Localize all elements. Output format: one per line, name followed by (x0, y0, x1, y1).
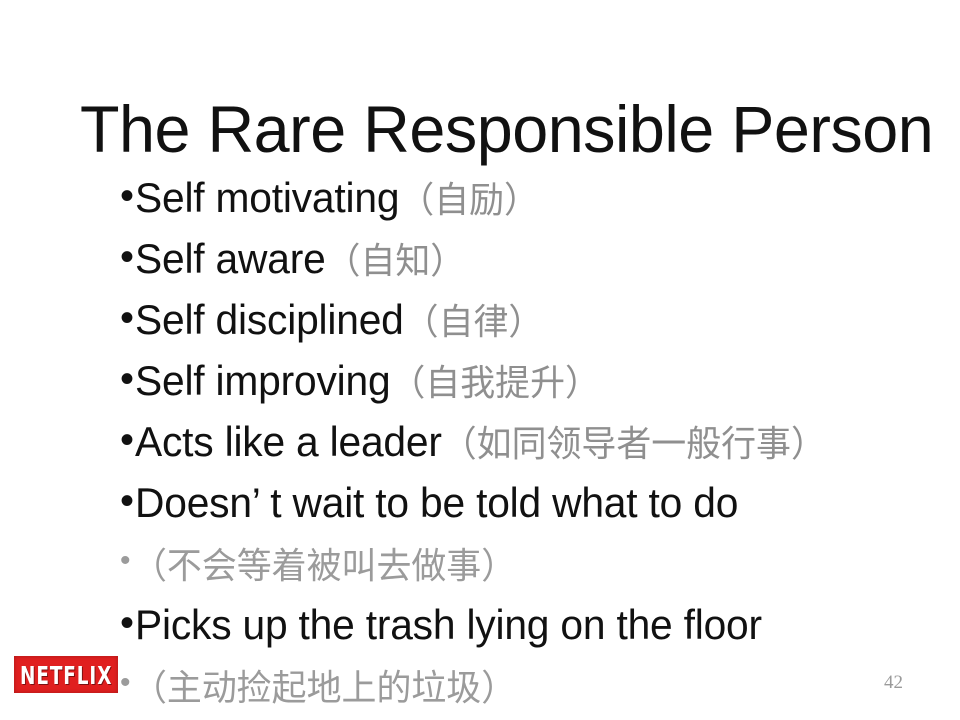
bullet-text-cn: （自律） (404, 301, 544, 342)
slide-title: The Rare Responsible Person (80, 92, 893, 166)
bullet-text-cn: （不会等着被叫去做事） (132, 545, 516, 586)
bullet-marker-icon: • (120, 420, 134, 460)
bullet-text: （不会等着被叫去做事） (132, 541, 516, 589)
bullet-text: Doesn’ t wait to be told what to do (135, 480, 738, 528)
bullet-text-cn: （主动捡起地上的垃圾） (132, 667, 516, 708)
slide-canvas: The Rare Responsible Person •Self motiva… (0, 0, 960, 720)
bullet-text: Self disciplined（自律） (135, 297, 543, 345)
bullet-marker-icon: • (120, 176, 134, 216)
bullet-item: •Doesn’ t wait to be told what to do (120, 473, 940, 534)
bullet-text: Self improving（自我提升） (135, 358, 600, 406)
bullet-marker-icon: • (120, 237, 134, 277)
bullet-text-en: Self disciplined (135, 296, 404, 343)
bullet-text: （主动捡起地上的垃圾） (132, 663, 516, 711)
bullet-text: Acts like a leader（如同领导者一般行事） (135, 419, 826, 467)
page-number: 42 (884, 672, 903, 694)
bullet-item: •Self disciplined（自律） (120, 290, 940, 351)
bullet-text-cn: （自励） (399, 179, 539, 220)
bullet-text-en: Self aware (135, 235, 326, 282)
netflix-logo: NETFLIX (14, 656, 118, 693)
bullet-text-en: Self improving (135, 357, 390, 404)
bullet-item: •（不会等着被叫去做事） (120, 534, 940, 595)
bullet-marker-icon: • (120, 481, 134, 521)
bullet-text-en: Self motivating (135, 174, 399, 221)
bullet-text-en: Doesn’ t wait to be told what to do (135, 479, 738, 526)
bullet-item: •Acts like a leader（如同领导者一般行事） (120, 412, 940, 473)
bullet-list: •Self motivating（自励）•Self aware（自知）•Self… (120, 168, 940, 717)
bullet-text-cn: （自我提升） (390, 362, 600, 403)
bullet-text: Self motivating（自励） (135, 175, 539, 223)
bullet-text-cn: （自知） (326, 240, 466, 281)
bullet-marker-icon: • (120, 298, 134, 338)
bullet-text: Picks up the trash lying on the floor (135, 602, 762, 650)
bullet-item: •Self motivating（自励） (120, 168, 940, 229)
bullet-text: Self aware（自知） (135, 236, 465, 284)
bullet-item: •（主动捡起地上的垃圾） (120, 656, 940, 717)
netflix-wordmark: NETFLIX (20, 662, 112, 687)
bullet-marker-icon: • (120, 359, 134, 399)
bullet-marker-icon: • (120, 603, 134, 643)
bullet-text-en: Picks up the trash lying on the floor (135, 601, 762, 648)
bullet-marker-icon: • (120, 668, 131, 698)
bullet-item: •Self aware（自知） (120, 229, 940, 290)
bullet-marker-icon: • (120, 546, 131, 576)
bullet-item: •Self improving（自我提升） (120, 351, 940, 412)
bullet-item: •Picks up the trash lying on the floor (120, 595, 940, 656)
bullet-text-en: Acts like a leader (135, 418, 442, 465)
bullet-text-cn: （如同领导者一般行事） (442, 423, 826, 464)
